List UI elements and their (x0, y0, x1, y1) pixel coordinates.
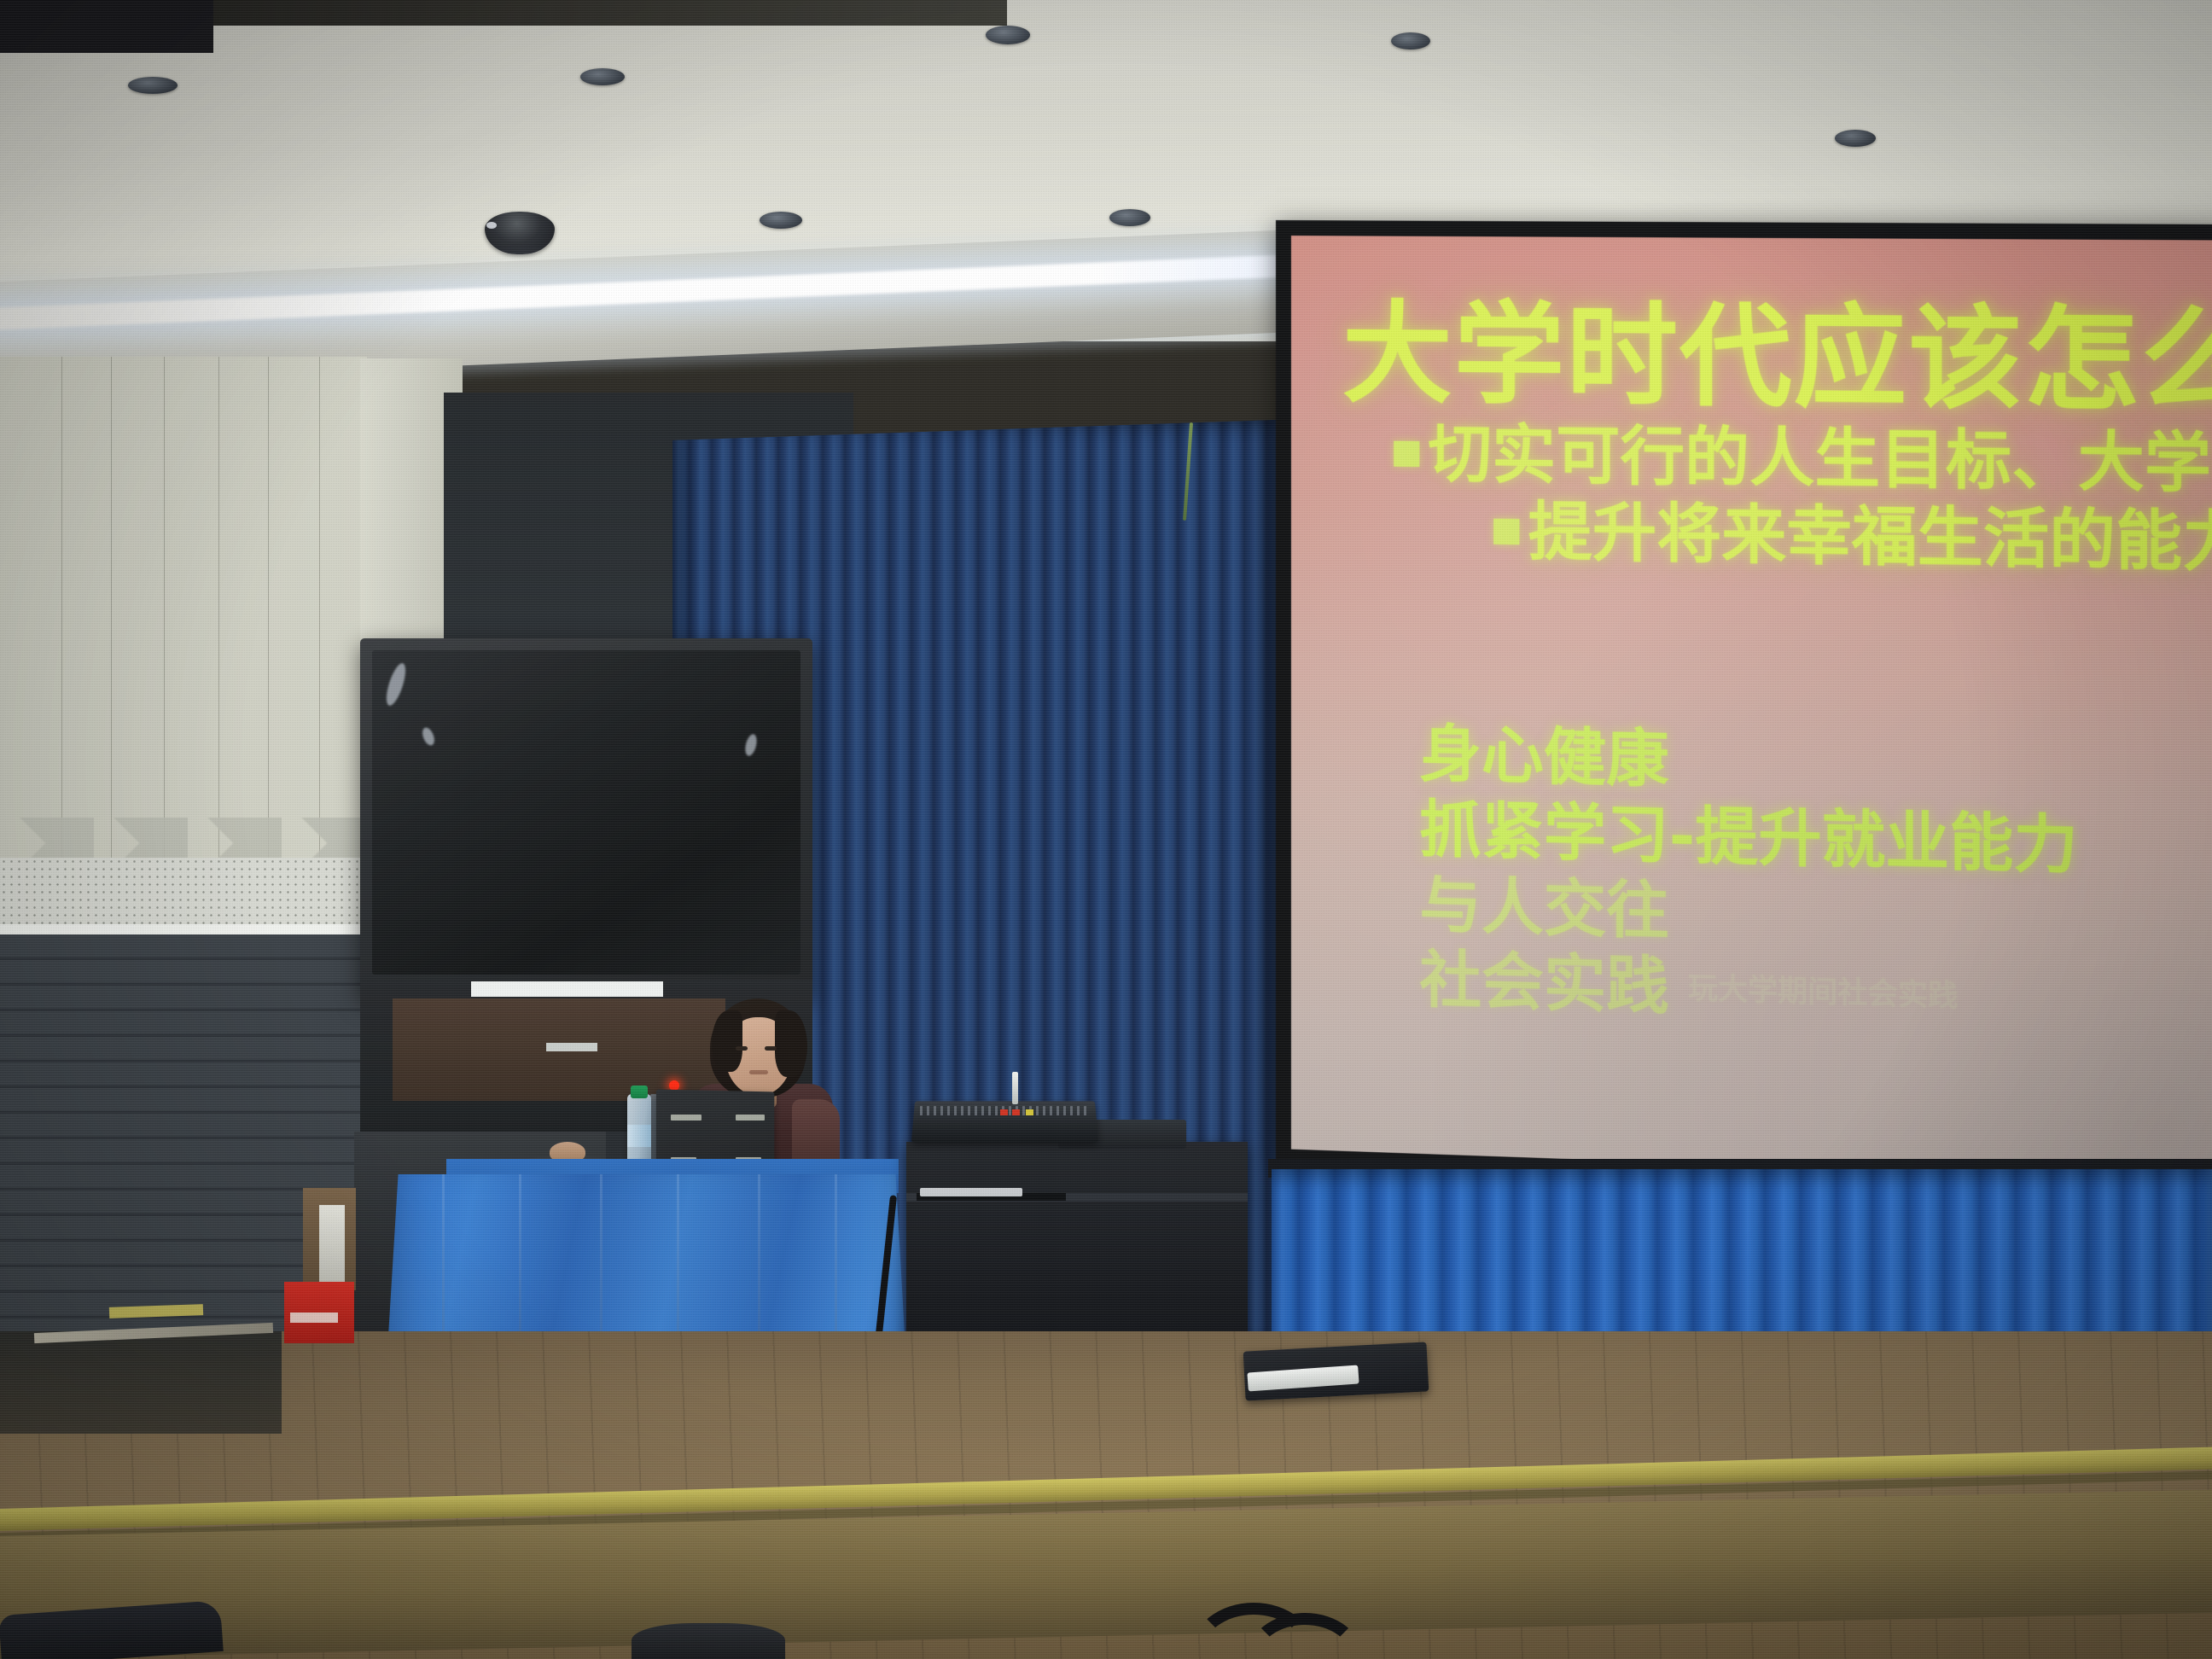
recessed-light-icon (986, 26, 1030, 44)
recessed-light-icon (1391, 32, 1430, 49)
cabinet-handle (546, 1043, 597, 1051)
cart-white-item (920, 1188, 1022, 1196)
monitor-screen (372, 650, 800, 975)
mixer-indicator-red (1012, 1109, 1020, 1115)
slide-bullet-text: 切实可行的人生目标、大学 (1428, 417, 2211, 502)
slide-title: 大学时代应该怎么过 (1342, 265, 2212, 434)
left-wall-panels (0, 357, 367, 869)
mixer-indicator-yellow (1026, 1109, 1033, 1115)
lecture-hall-photo: 大学时代应该怎么过 切实可行的人生目标、大学 提升将来幸福生活的能力 身心健康 … (0, 0, 2212, 1659)
bullet-square-icon (1493, 519, 1519, 545)
rear-projection-monitor (360, 638, 812, 997)
bullet-square-icon (1394, 441, 1419, 467)
cabinet-white-strip (471, 981, 663, 997)
slide-bullet-item: 提升将来幸福生活的能力 (1493, 498, 2212, 578)
presenter-hair-right (775, 1010, 807, 1077)
slide-faint-note: 玩大学期间社会实践 (1688, 971, 1958, 1016)
white-carton (319, 1205, 345, 1290)
screen-skirt-curtain (1272, 1169, 2212, 1355)
slide-bullet-item: 切实可行的人生目标、大学 (1394, 422, 2212, 500)
red-box-label (290, 1313, 338, 1323)
presenter-hair-left (712, 1010, 742, 1072)
slide-bullet-list: 切实可行的人生目标、大学 提升将来幸福生活的能力 (1394, 422, 2212, 579)
floor-left-shadow (0, 1331, 282, 1434)
recessed-light-icon (1109, 209, 1150, 226)
slide-bullet-text: 提升将来幸福生活的能力 (1528, 495, 2212, 580)
perforated-acoustic-panel (0, 858, 375, 924)
recessed-light-icon (580, 68, 625, 85)
slide-body-text: 社会实践 (1419, 943, 1668, 1022)
mixer-indicator-red (1000, 1109, 1008, 1115)
projection-screen: 大学时代应该怎么过 切实可行的人生目标、大学 提升将来幸福生活的能力 身心健康 … (1276, 220, 2212, 1202)
bottle-cap (631, 1086, 648, 1098)
foreground-object (632, 1623, 785, 1659)
recessed-light-icon (1835, 130, 1876, 147)
projection-screen-surface: 大学时代应该怎么过 切实可行的人生目标、大学 提升将来幸福生活的能力 身心健康 … (1291, 236, 2212, 1183)
slide-body-list: 身心健康 抓紧学习-提升就业能力 与人交往 社会实践玩大学期间社会实践 (1419, 716, 2212, 1045)
recessed-light-icon (128, 77, 178, 94)
presenter-eye-left (736, 1046, 748, 1051)
presenter-mouth (749, 1070, 768, 1074)
ceiling-corner-dark (0, 0, 213, 53)
recessed-light-icon (760, 212, 802, 229)
mixer-antenna (1012, 1072, 1018, 1104)
presenter-eye-right (765, 1046, 777, 1051)
bottle-label (627, 1125, 651, 1147)
